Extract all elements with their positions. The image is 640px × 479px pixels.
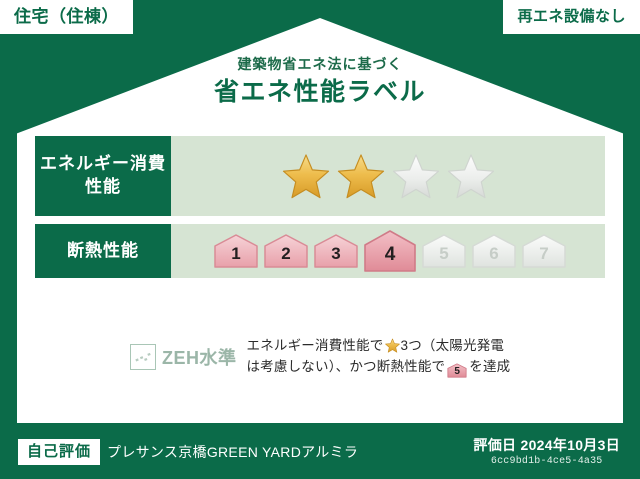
row-insulation-label: 断熱性能: [35, 224, 171, 278]
grade-chip-3-value: 3: [331, 245, 340, 269]
zeh-description-part4: を達成: [469, 359, 510, 374]
title-subtitle: 建築物省エネ法に基づく: [0, 56, 640, 73]
zeh-note: ZEH水準 エネルギー消費性能で3つ（太陽光発電は考慮しない）、かつ断熱性能で5…: [130, 336, 570, 378]
zeh-description: エネルギー消費性能で3つ（太陽光発電は考慮しない）、かつ断熱性能で5を達成: [247, 336, 511, 378]
energy-performance-label: 住宅（住棟） 再エネ設備なし 建築物省エネ法に基づく 省エネ性能ラベル エネルギ…: [0, 0, 640, 479]
grade-chip-5-value: 5: [439, 245, 448, 269]
footer-left: 自己評価 プレサンス京橋GREEN YARDアルミラ: [18, 439, 358, 465]
star-icon-filled-1: [282, 153, 330, 199]
grade-badge-inline: 5: [447, 363, 467, 378]
tag-dwelling-type: 住宅（住棟）: [0, 0, 133, 34]
rating-rows: エネルギー消費性能: [35, 136, 605, 286]
zeh-label: ZEH水準: [162, 344, 237, 370]
row-energy-performance: エネルギー消費性能: [35, 136, 605, 216]
footer-right: 評価日 2024年10月3日 6cc9bd1b-4ce5-4a35: [473, 436, 620, 467]
zeh-badge: ZEH水準: [130, 344, 237, 370]
insulation-grade-scale: 1 2 3: [171, 224, 605, 278]
building-name: プレサンス京橋GREEN YARDアルミラ: [107, 445, 358, 459]
grade-chip-6-value: 6: [489, 245, 498, 269]
grade-chip-1-value: 1: [231, 245, 240, 269]
zeh-description-part3: は考慮しない）、かつ断熱性能で: [247, 359, 446, 374]
page-title: 省エネ性能ラベル: [0, 77, 640, 108]
grade-chip-2-value: 2: [281, 245, 290, 269]
grade-chip-4-value: 4: [385, 245, 396, 273]
grade-chip-6: 6: [471, 233, 517, 269]
grade-chip-7: 7: [521, 233, 567, 269]
energy-star-rating: [171, 136, 605, 216]
star-icon-empty-3: [392, 153, 440, 199]
evaluation-id: 6cc9bd1b-4ce5-4a35: [473, 456, 620, 467]
grade-chip-2: 2: [263, 233, 309, 269]
tag-renewable-equipment: 再エネ設備なし: [503, 0, 640, 34]
grade-chip-1: 1: [213, 233, 259, 269]
grade-chip-7-value: 7: [539, 245, 548, 269]
row-insulation-performance: 断熱性能 1 2: [35, 224, 605, 278]
row-energy-label: エネルギー消費性能: [35, 136, 171, 216]
zeh-description-part1: エネルギー消費性能で: [247, 338, 384, 353]
grade-chip-3: 3: [313, 233, 359, 269]
star-icon-filled-2: [337, 153, 385, 199]
zeh-description-part2: 3つ（太陽光発電: [401, 338, 505, 353]
evaluation-date: 評価日 2024年10月3日: [473, 436, 620, 454]
star-icon-empty-4: [447, 153, 495, 199]
solar-chart-icon: [130, 344, 156, 370]
grade-badge-inline-value: 5: [447, 363, 467, 380]
title-block: 建築物省エネ法に基づく 省エネ性能ラベル: [0, 56, 640, 108]
self-evaluation-badge: 自己評価: [18, 439, 100, 465]
star-icon-inline: [385, 338, 400, 353]
grade-chip-5: 5: [421, 233, 467, 269]
grade-chip-4-current: 4: [363, 229, 417, 273]
